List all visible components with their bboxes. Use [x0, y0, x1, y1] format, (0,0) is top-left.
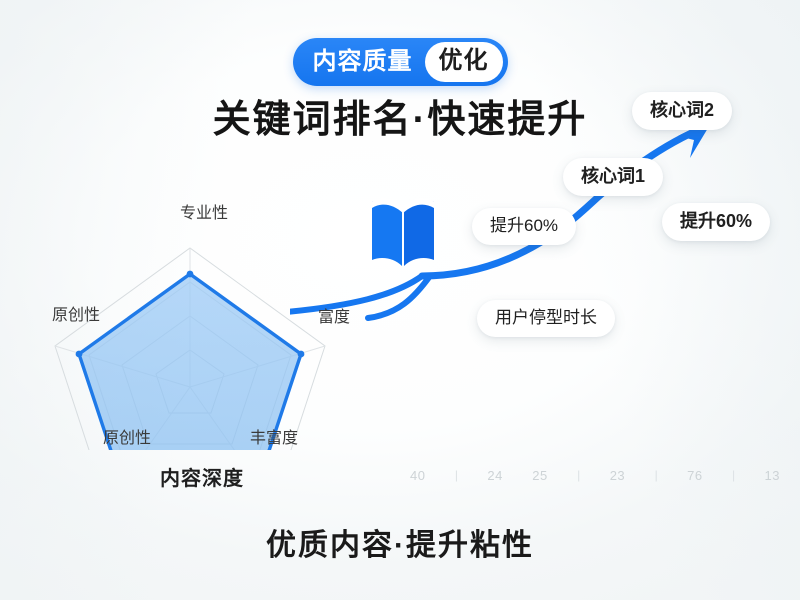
radar-label-top: 专业性 — [180, 199, 228, 223]
badge-optimize-pill: 优化 — [425, 42, 503, 82]
pill-increase-left[interactable]: 提升60% — [472, 208, 576, 245]
tick-value: 13 — [765, 468, 780, 483]
tick-separator: | — [577, 468, 580, 482]
pill-core-keyword-2[interactable]: 核心词2 — [632, 92, 732, 130]
page-subtitle: 优质内容·提升粘性 — [0, 520, 800, 564]
tick-value: 25 — [532, 468, 547, 483]
radar-label-right: 富度 — [318, 303, 350, 327]
badge-main-label: 内容质量 — [313, 50, 425, 74]
tick-separator: | — [732, 468, 735, 482]
radar-chart — [30, 230, 350, 450]
open-book-icon — [368, 186, 438, 272]
tick-value: 40 — [410, 468, 425, 483]
tick-separator: | — [655, 468, 658, 482]
radar-caption: 内容深度 — [160, 462, 244, 491]
pill-core-keyword-1[interactable]: 核心词1 — [563, 158, 663, 196]
pill-user-dwell-time[interactable]: 用户停型时长 — [477, 300, 615, 337]
tick-value: 23 — [610, 468, 625, 483]
badge-container: 内容质量 优化 — [0, 38, 800, 86]
radar-label-left: 原创性 — [52, 301, 100, 325]
content-quality-badge[interactable]: 内容质量 优化 — [293, 38, 508, 86]
tick-value: 76 — [687, 468, 702, 483]
poster-canvas: 内容质量 优化 关键词排名·快速提升 — [0, 0, 800, 600]
radar-label-bottom-left: 原创性 — [103, 424, 151, 448]
faint-axis-ticks: 40 | 24 25 | 23 | 76 | 13 — [410, 464, 780, 486]
tick-value: 24 — [487, 468, 502, 483]
radar-label-bottom-right: 丰富度 — [250, 424, 298, 448]
pill-increase-right[interactable]: 提升60% — [662, 203, 770, 241]
tick-separator: | — [455, 468, 458, 482]
